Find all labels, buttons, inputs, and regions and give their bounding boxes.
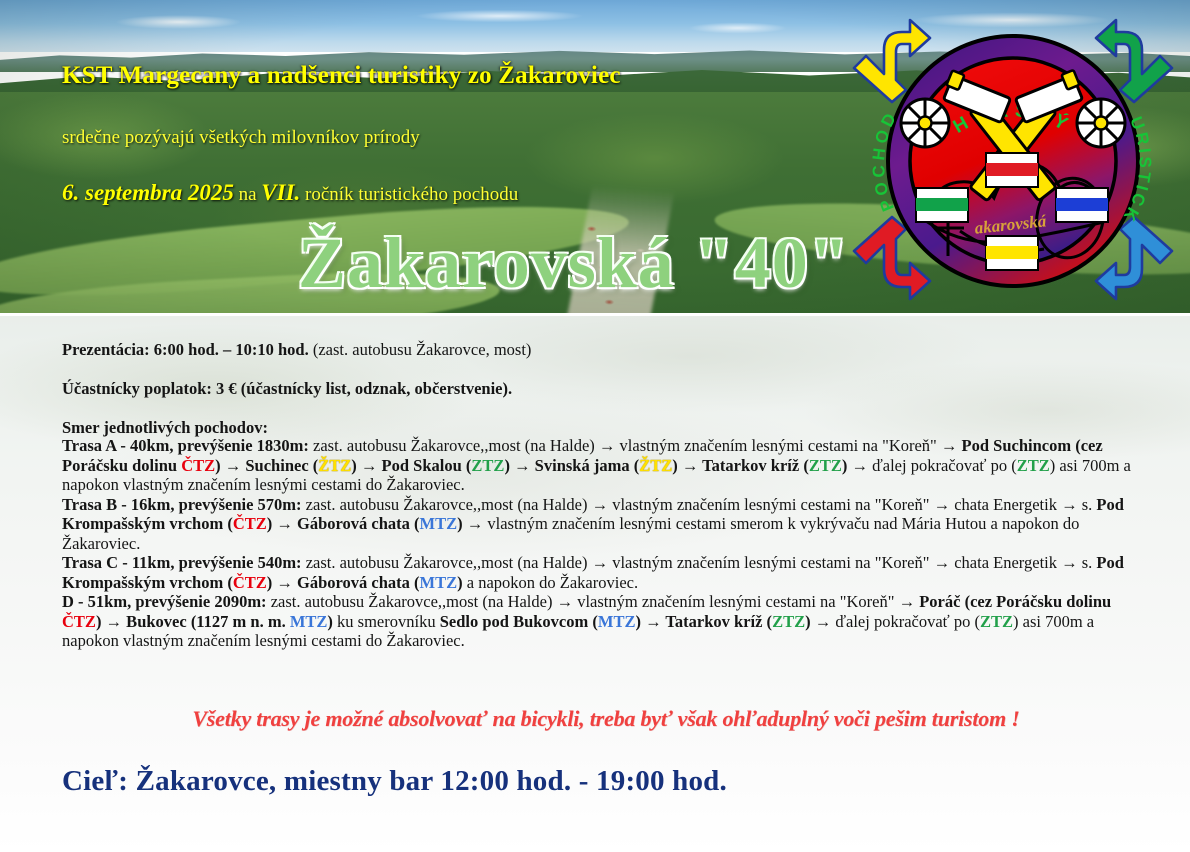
bicycle-notice: Všetky trasy je možné absolvovať na bicy… <box>76 706 1136 732</box>
route-text: ) → Svinská jama ( <box>504 456 639 475</box>
route-text: ) → Bukovec (1127 m n. m. <box>96 612 290 631</box>
fee-line: Účastnícky poplatok: 3 € (účastnícky lis… <box>62 381 1142 398</box>
route-spec: - 16km, prevýšenie 570m: <box>117 495 301 514</box>
trail-marker-code: MTZ <box>420 573 458 592</box>
route-text: ) → Gáborová chata ( <box>267 514 420 533</box>
route-name: Trasa B <box>62 495 117 514</box>
event-subtitle: ročník turistického pochodu <box>300 184 518 205</box>
spacer <box>62 359 1142 381</box>
route-text: → ďalej pokračovať po ( <box>847 456 1016 475</box>
trail-marker-code: ZTZ <box>980 612 1013 631</box>
route-text: ) → Pod Skalou ( <box>351 456 471 475</box>
route-spec: - 51km, prevýšenie 2090m: <box>74 592 267 611</box>
trail-marker-code: ZTZ <box>772 612 805 631</box>
trail-marker-code: MTZ <box>598 612 636 631</box>
hero-photo-banner: KST Margecany a nadšenci turistiky zo Ža… <box>0 0 1190 313</box>
trail-marker-code: ŽTZ <box>318 456 351 475</box>
route-text: zast. autobusu Žakarovce,,most (na Halde… <box>267 592 920 611</box>
hero-text-block: KST Margecany a nadšenci turistiky zo Ža… <box>62 62 822 206</box>
finish-line-info: Cieľ: Žakarovce, miestny bar 12:00 hod. … <box>62 765 727 798</box>
route-text: zast. autobusu Žakarovce,,most (na Halde… <box>309 436 962 455</box>
route-text: Poráč (cez Poráčsku dolinu <box>919 592 1111 611</box>
green-trail-marker-icon <box>916 188 968 222</box>
body-section: Prezentácia: 6:00 hod. – 10:10 hod. (zas… <box>0 313 1190 852</box>
trail-marker-code: ČTZ <box>62 612 96 631</box>
route-text: zast. autobusu Žakarovce,,most (na Halde… <box>302 553 1097 572</box>
red-trail-marker-icon <box>986 153 1038 187</box>
routes-heading: Smer jednotlivých pochodov: <box>62 420 1142 437</box>
date-connector: na <box>234 184 261 205</box>
presentation-line: Prezentácia: 6:00 hod. – 10:10 hod. (zas… <box>62 342 1142 359</box>
route-text: Sedlo pod Bukovcom ( <box>440 612 598 631</box>
event-date: 6. septembra 2025 <box>62 180 234 205</box>
route-text: ) → Suchinec ( <box>215 456 318 475</box>
route-paragraph: D - 51km, prevýšenie 2090m: zast. autobu… <box>62 592 1142 651</box>
route-name: Trasa C <box>62 553 118 572</box>
edition-number: VII. <box>261 180 300 205</box>
trail-marker-code: ZTZ <box>809 456 842 475</box>
trail-marker-code: MTZ <box>290 612 328 631</box>
main-event-title: Žakarovská "40" <box>298 222 850 305</box>
route-name: Trasa A <box>62 436 116 455</box>
organizer-title: KST Margecany a nadšenci turistiky zo Ža… <box>62 62 822 90</box>
poster: KST Margecany a nadšenci turistiky zo Ža… <box>0 0 1190 852</box>
route-text: zast. autobusu Žakarovce,,most (na Halde… <box>302 495 1097 514</box>
presentation-label: Prezentácia: <box>62 340 150 359</box>
yellow-trail-marker-icon <box>986 236 1038 270</box>
route-name: D <box>62 592 74 611</box>
trail-marker-code: MTZ <box>420 514 458 533</box>
trail-marker-code: ŽTZ <box>639 456 672 475</box>
right-rosette-icon <box>1077 99 1125 147</box>
blue-trail-marker-icon <box>1056 188 1108 222</box>
invitation-line: srdečne pozývajú všetkých milovníkov prí… <box>62 127 822 149</box>
trail-marker-code: ZTZ <box>1017 456 1050 475</box>
route-spec: - 40km, prevýšenie 1830m: <box>116 436 309 455</box>
spacer <box>62 398 1142 420</box>
route-text: ku smerovníku <box>333 612 440 631</box>
date-line: 6. septembra 2025 na VII. ročník turisti… <box>62 180 822 206</box>
trail-marker-code: ZTZ <box>471 456 504 475</box>
fee-label: Účastnícky poplatok: 3 € <box>62 379 237 398</box>
route-text: ) → Gáborová chata ( <box>267 573 420 592</box>
presentation-place: (zast. autobusu Žakarovce, most) <box>313 340 532 359</box>
route-paragraph: Trasa A - 40km, prevýšenie 1830m: zast. … <box>62 436 1142 495</box>
trail-marker-code: ČTZ <box>181 456 215 475</box>
route-paragraph: Trasa B - 16km, prevýšenie 570m: zast. a… <box>62 495 1142 554</box>
fee-detail: (účastnícky list, odznak, občerstvenie). <box>241 379 512 398</box>
trail-marker-code: ČTZ <box>233 573 267 592</box>
trail-marker-code: ČTZ <box>233 514 267 533</box>
route-text: → ďalej pokračovať po ( <box>811 612 980 631</box>
presentation-time: 6:00 hod. – 10:10 hod. <box>154 340 309 359</box>
club-emblem-logo: HORSKÝ POCHOD TURISTICKÝ <box>848 6 1178 313</box>
route-text: ) → Tatarkov kríž ( <box>672 456 809 475</box>
routes-list: Trasa A - 40km, prevýšenie 1830m: zast. … <box>62 436 1142 651</box>
route-text: ) → Tatarkov kríž ( <box>635 612 772 631</box>
route-paragraph: Trasa C - 11km, prevýšenie 540m: zast. a… <box>62 553 1142 592</box>
left-rosette-icon <box>901 99 949 147</box>
route-spec: - 11km, prevýšenie 540m: <box>118 553 301 572</box>
details-content: Prezentácia: 6:00 hod. – 10:10 hod. (zas… <box>62 342 1142 651</box>
section-divider <box>0 313 1190 316</box>
route-text: a napokon do Žakaroviec. <box>463 573 638 592</box>
